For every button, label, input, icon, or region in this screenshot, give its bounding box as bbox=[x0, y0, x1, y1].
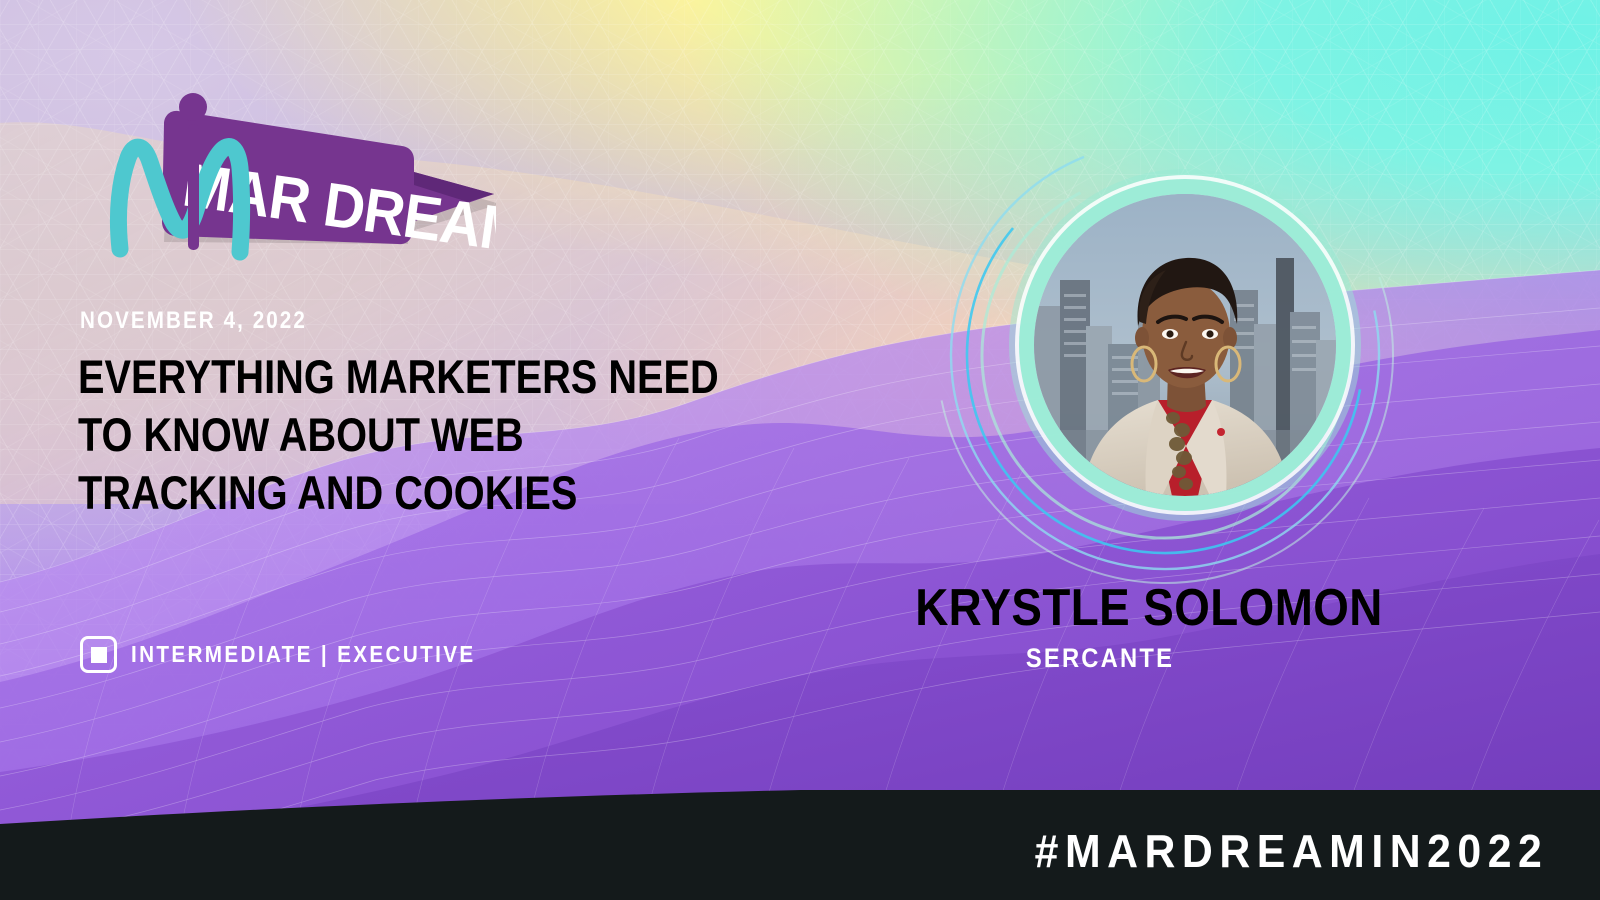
event-hashtag: #MARDREAMIN2022 bbox=[1034, 824, 1548, 878]
level-square-icon bbox=[80, 636, 117, 673]
level-track-label: INTERMEDIATE | EXECUTIVE bbox=[131, 641, 476, 668]
session-promo-card: MAR DREAMIN' NOVEMBER 4, 2022 EVERYTHING… bbox=[0, 0, 1600, 900]
session-date: NOVEMBER 4, 2022 bbox=[80, 307, 307, 335]
avatar bbox=[1034, 194, 1336, 496]
speaker-company: SERCANTE bbox=[915, 643, 1285, 674]
mardreamin-logo[interactable]: MAR DREAMIN' bbox=[96, 84, 496, 269]
speaker-name: KRYSTLE SOLOMON bbox=[915, 578, 1285, 638]
logo-i-stem bbox=[188, 124, 199, 250]
level-track-badge: INTERMEDIATE | EXECUTIVE bbox=[80, 636, 514, 673]
speaker-photo bbox=[1034, 194, 1336, 496]
logo-i-dot bbox=[179, 93, 207, 121]
speaker-photo-illustration bbox=[1034, 194, 1336, 496]
page-title: EVERYTHING MARKETERS NEED TO KNOW ABOUT … bbox=[78, 348, 720, 522]
